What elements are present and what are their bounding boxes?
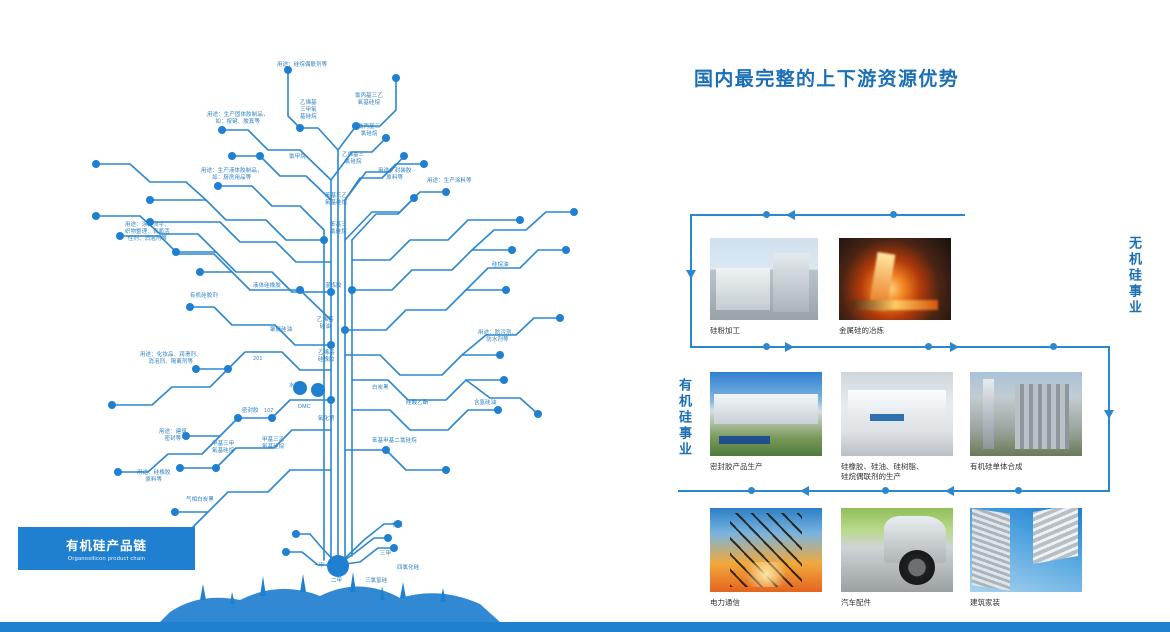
tree-label-silicone-oil: 氧化第 (318, 416, 335, 423)
tree-label-use-sealant-material: 用途：封装胶 原料等 (378, 168, 412, 182)
flow-dot-top-b (890, 211, 897, 218)
card-auto-parts[interactable]: 汽车配件 (841, 508, 953, 592)
thumbnail-silicon-powder-processing (710, 238, 818, 320)
tree-label-chloropropyl-triethoxysilane: 氯丙基三乙 氧基硅烷 (355, 93, 383, 107)
tree-node-dots (92, 66, 578, 577)
flow-dot-mid-a (763, 343, 770, 350)
brand-badge-title: 有机硅产品链 (66, 535, 147, 554)
card-caption: 建筑家装 (970, 598, 1130, 608)
tree-label-vinyl-trichlorosilane: 乙烯基三 氯硅烷 (342, 152, 364, 166)
thumbnail-silicone-products-production (841, 372, 953, 456)
tree-label-chloropropyl-trichlorosilane: 氯丙基三 氯硅烷 (358, 124, 380, 138)
flow-dot-low-a (748, 487, 755, 494)
tree-label-use-silane-coupling: 用途：硅烷偶联剂等 (277, 62, 327, 69)
thumbnail-power-communication (710, 508, 822, 592)
section-label-inorganic: 无机硅事业 (1126, 236, 1142, 316)
thumbnail-organosilicon-monomer-synthesis (970, 372, 1082, 456)
tree-label-use-antifouling: 用途：防污剂、 防水剂等 (478, 330, 517, 344)
tree-label-phenyl-trichlorosilane: 苯基三 氯硅烷 (330, 222, 347, 236)
flow-arrow-right-down (1104, 410, 1114, 419)
tree-label-organosilicon-agent: 有机硅胶剂 (190, 293, 218, 300)
organosilicon-product-chain-panel: 用途：硅烷偶联剂等氯丙基三乙 氧基硅烷氯丙基三 氯硅烷乙烯基 三甲氧 基硅烷用途… (0, 0, 660, 632)
flow-arrow-low-left-a (800, 486, 809, 496)
tree-label-use-solid-rubber: 用途：生产固体胶制品， 如：按键、胶真等 (207, 112, 269, 126)
tree-label-dmc: DMC (298, 404, 311, 411)
card-silicon-powder-processing[interactable]: 硅粉加工 (710, 238, 818, 320)
flow-line-middle (690, 346, 1110, 348)
flow-arrow-left-down (686, 270, 696, 279)
tree-label-use-building-sealant: 用途：建筑 密封等 (159, 429, 187, 443)
flow-dot-top-a (763, 211, 770, 218)
flow-dot-mid-b (925, 343, 932, 350)
flow-dot-low-c (1015, 487, 1022, 494)
tree-label-ethyl-silicate: 硅酸乙酯 (406, 400, 428, 407)
tree-label-use-silicone-rubber-material: 用途：硅橡胶 原料等 (137, 470, 171, 484)
page-title: 国内最完整的上下游资源优势 (694, 64, 959, 91)
thumbnail-metallic-silicon-smelting (839, 238, 951, 320)
flow-line-left-upper (690, 214, 692, 348)
card-caption: 有机硅单体合成 (970, 462, 1130, 472)
card-silicone-products-production[interactable]: 硅橡胶、硅油、硅树脂、 硅烷偶联剂的生产 (841, 372, 953, 456)
tree-label-label-107: 107 (264, 408, 274, 415)
brand-badge: 有机硅产品链 Organosilicon product chain (18, 527, 195, 570)
tree-label-silane-oil: 硅烷油 (492, 262, 509, 269)
ground-grass (160, 572, 500, 622)
tree-label-use-coating-leveling: 用途：涂料流平、 织物整理、表面活 性剂、消泡剂等 (125, 222, 170, 243)
section-label-organic: 有机硅事业 (676, 378, 692, 458)
tree-label-polyether-silicone-oil: 聚醚硅油 (270, 327, 292, 334)
tree-label-fumed-silica: 气相白炭黑 (186, 497, 214, 504)
flow-arrow-top-left (786, 210, 795, 220)
tree-label-dimethyl: 二甲 (331, 578, 342, 585)
card-organosilicon-monomer-synthesis[interactable]: 有机硅单体合成 (970, 372, 1082, 456)
flow-dot-low-b (882, 487, 889, 494)
tree-label-hydrogen-containing: 含氢 (392, 522, 403, 529)
tree-label-vinyl-silicone-rubber: 乙烯基 硅橡胶 (318, 350, 335, 364)
tree-label-vinyl-silicone-oil: 乙烯基 硅油 (317, 317, 334, 331)
thumbnail-building-decoration (970, 508, 1082, 592)
tree-label-use-cosmetics: 用途：化妆品、润滑剂、 消泡剂、隔离剂等 (140, 352, 202, 366)
tree-label-methyl-trimethoxysilane: 甲基三甲 氧基硅烷 (212, 441, 234, 455)
tree-label-hydrolysate: 水解物 (289, 383, 306, 390)
tree-label-phenyl-triethoxysilane: 苯基三乙 氧基硅烷 (325, 193, 347, 207)
tree-label-liquid-silicone-rubber: 液体硅橡胶 (253, 283, 281, 290)
upstream-downstream-panel: 国内最完整的上下游资源优势 无机硅事业 有机硅事业 硅粉加工 金属硅的冶炼 密封… (660, 0, 1170, 632)
tree-label-use-coating-production: 用途：生产涂料等 (427, 178, 472, 185)
flow-line-lower (678, 490, 1110, 492)
tree-label-white-carbon-black: 白炭黑 (372, 385, 389, 392)
tree-label-methyl-chloride: 氯甲烷 (289, 154, 306, 161)
card-caption: 金属硅的冶炼 (839, 326, 999, 336)
tree-label-trimethyl: 三甲 (380, 551, 391, 558)
tree-label-use-liquid-rubber: 用途：生产液体胶制品， 如：厨房用品等 (201, 168, 263, 182)
tree-label-label-201: 201 (253, 356, 263, 363)
tree-label-mixed-rubber: 混炼胶 (325, 283, 342, 290)
tree-label-hydrogen-silicone-oil: 含氢硅油 (474, 400, 496, 407)
flow-arrow-low-left-b (945, 486, 954, 496)
thumbnail-auto-parts (841, 508, 953, 592)
flow-arrow-mid-right-a (785, 342, 794, 352)
bottom-accent-rule (0, 622, 1170, 632)
flow-dot-mid-c (1050, 343, 1057, 350)
card-power-communication[interactable]: 电力通信 (710, 508, 822, 592)
thumbnail-sealant-production (710, 372, 822, 456)
tree-label-phenyl-methyl-dichlorosilane: 苯基甲基二氯硅烷 (372, 438, 417, 445)
card-metallic-silicon-smelting[interactable]: 金属硅的冶炼 (839, 238, 951, 320)
card-building-decoration[interactable]: 建筑家装 (970, 508, 1082, 592)
card-sealant-production[interactable]: 密封胶产品生产 (710, 372, 822, 456)
tree-label-sealant: 密封胶 (242, 408, 259, 415)
tree-label-trichlorosilane: 三氯氢硅 (365, 578, 387, 585)
flow-arrow-mid-right-b (950, 342, 959, 352)
tree-label-vinyl-trimethoxysilane: 乙烯基 三甲氧 基硅烷 (300, 100, 317, 121)
tree-label-methyl-triethoxysilane: 甲基三乙 氧基硅烷 (262, 437, 284, 451)
tree-label-monomethyl: 一甲 (313, 563, 324, 570)
brand-badge-subtitle: Organosilicon product chain (68, 556, 145, 562)
flow-line-top (690, 214, 965, 216)
tree-label-silicon-tetrachloride: 四氯化硅 (397, 565, 419, 572)
